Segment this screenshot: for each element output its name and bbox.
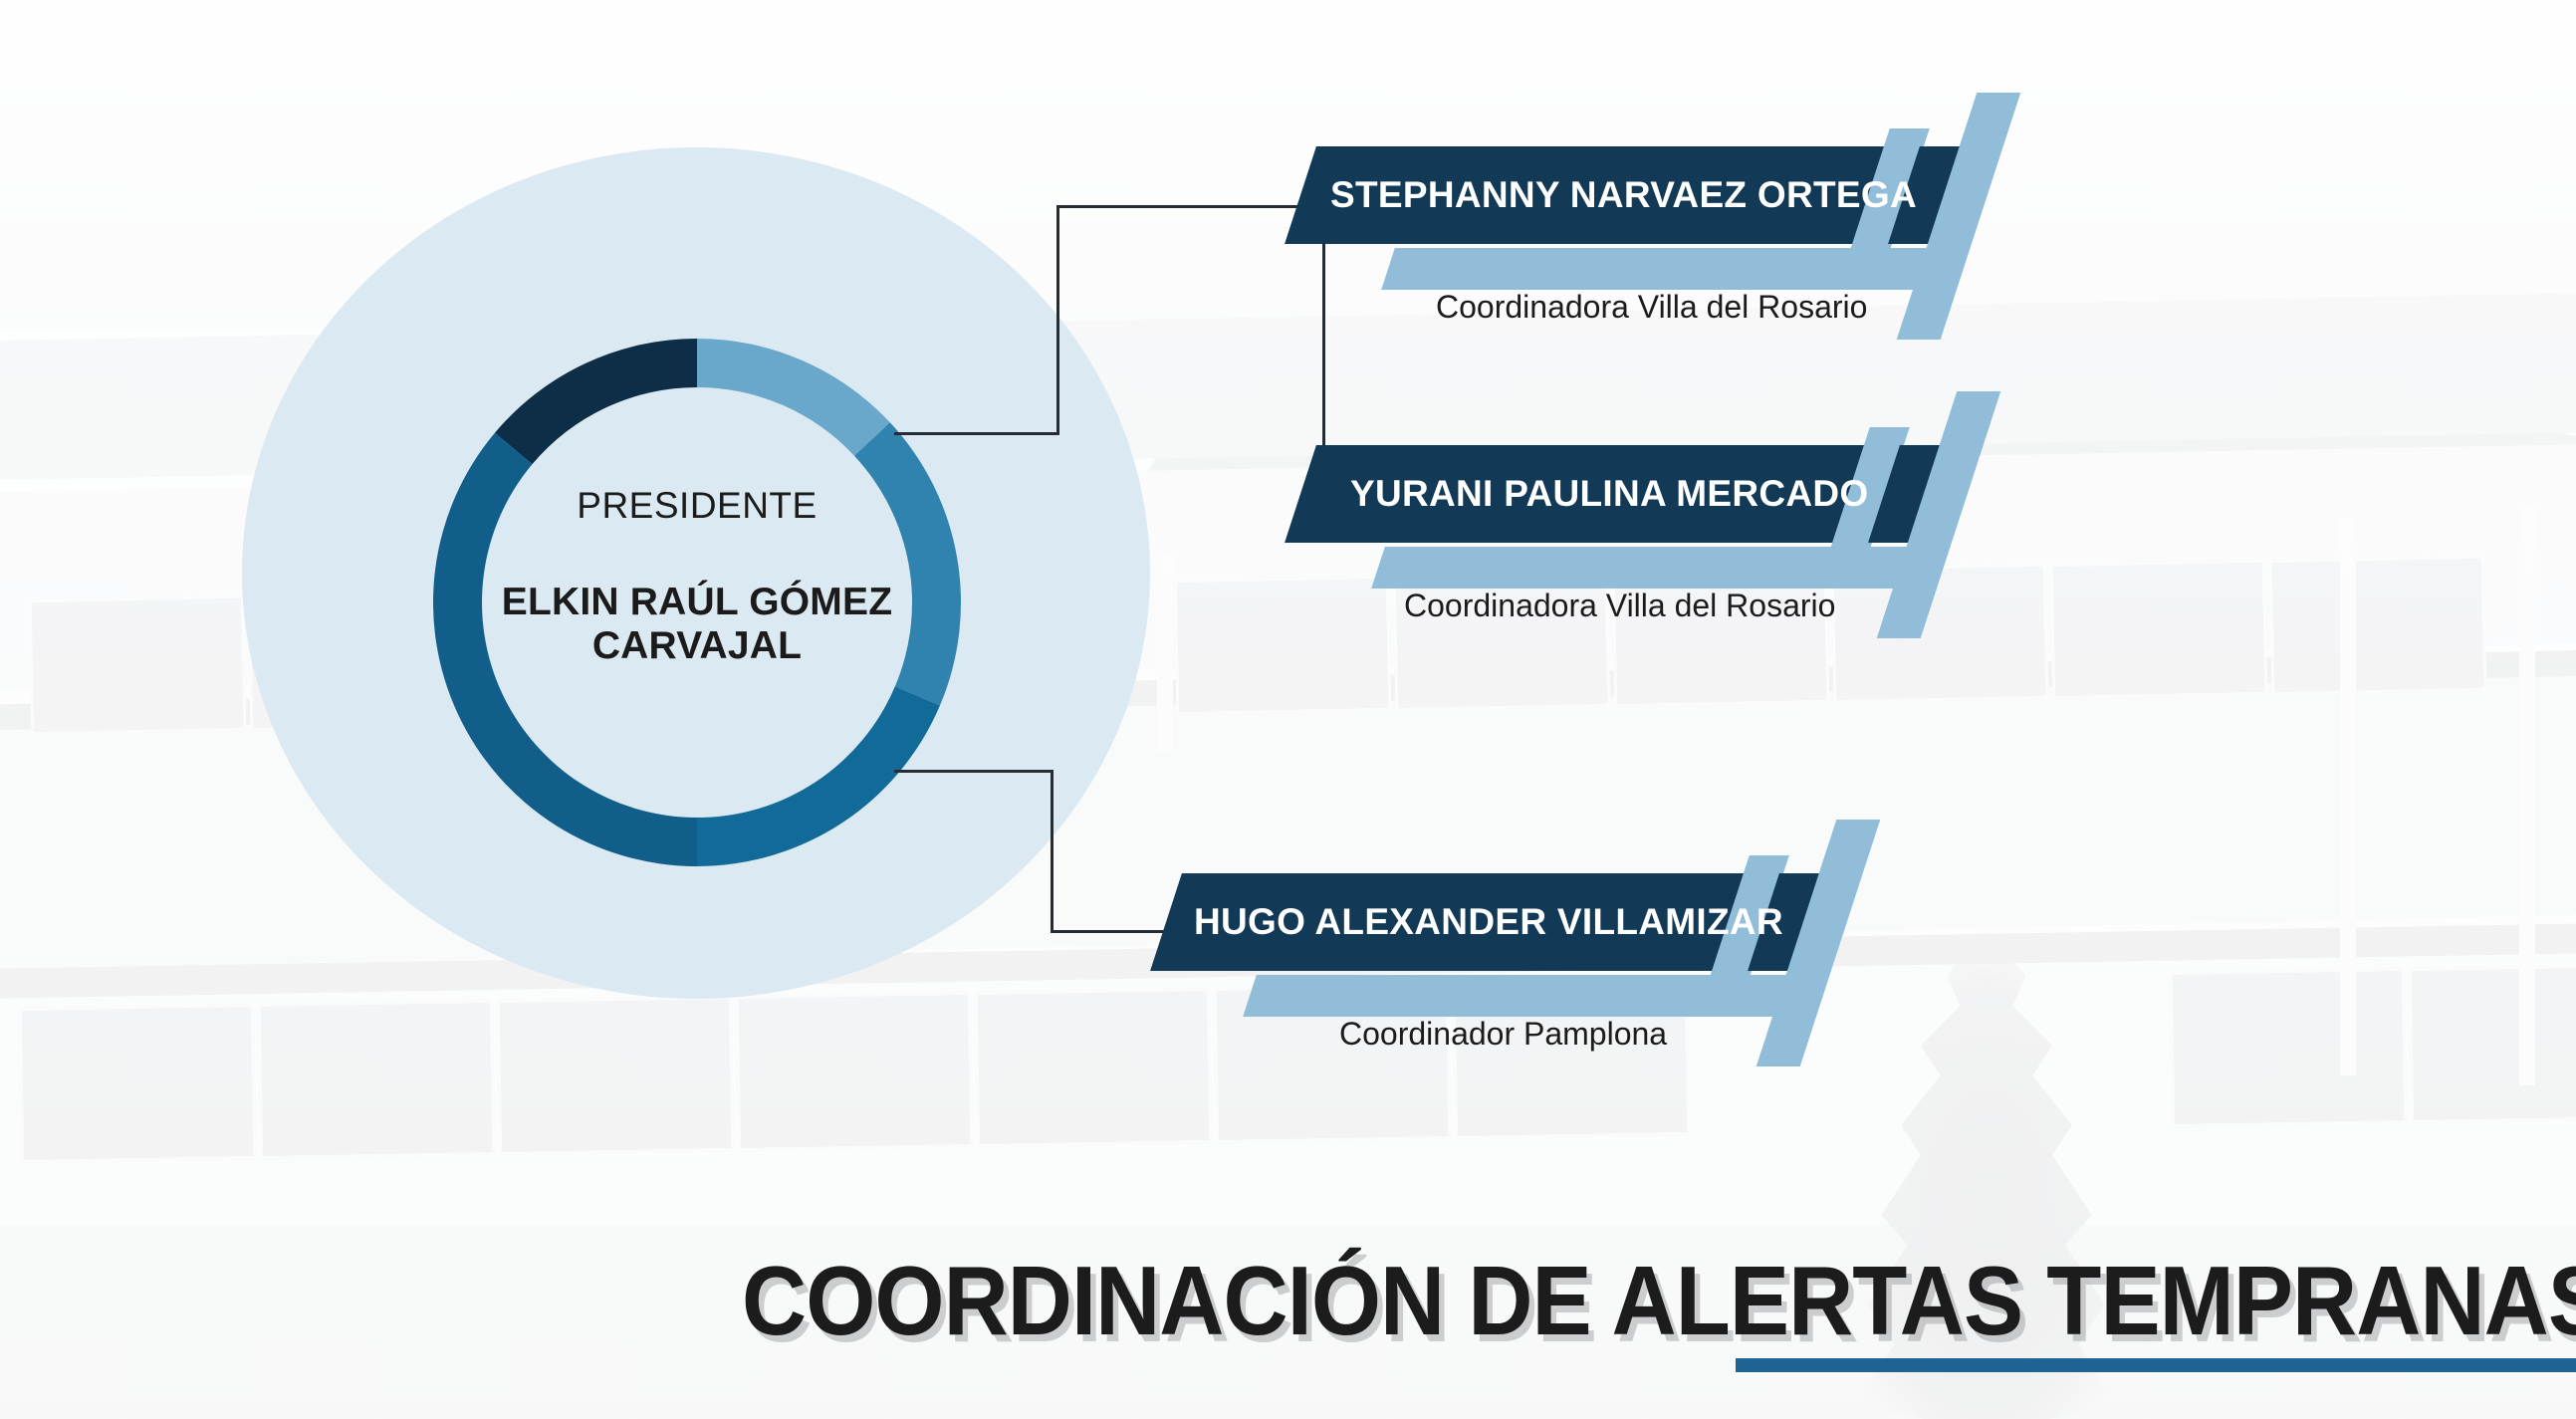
node-name-3: HUGO ALEXANDER VILLAMIZAR bbox=[1194, 873, 1783, 971]
node-role-1: Coordinadora Villa del Rosario bbox=[1436, 289, 1867, 326]
segment-navy bbox=[495, 339, 697, 464]
page-title: COORDINACIÓN DE ALERTAS TEMPRANAS bbox=[742, 1245, 2576, 1357]
connector-branch-3-drop bbox=[1051, 770, 1054, 933]
connector-root-riser bbox=[1056, 205, 1059, 435]
root-role-label: PRESIDENTE bbox=[448, 485, 946, 527]
root-name-line-2: CARVAJAL bbox=[418, 624, 976, 668]
segment-light-blue bbox=[697, 339, 890, 456]
root-name-label: ELKIN RAÚL GÓMEZ CARVAJAL bbox=[418, 581, 976, 669]
node-banner-3[interactable]: HUGO ALEXANDER VILLAMIZAR bbox=[1150, 873, 1867, 971]
node-name-1: STEPHANNY NARVAEZ ORTEGA bbox=[1330, 146, 1917, 244]
banner-underbar bbox=[1371, 547, 1929, 589]
title-underline-rule bbox=[1736, 1358, 2576, 1372]
node-banner-2[interactable]: YURANI PAULINA MERCADO bbox=[1285, 445, 2001, 543]
node-role-3: Coordinador Pamplona bbox=[1339, 1016, 1667, 1053]
segment-steel-blue bbox=[697, 686, 940, 866]
banner-underbar bbox=[1243, 975, 1806, 1017]
node-name-2: YURANI PAULINA MERCADO bbox=[1350, 445, 1868, 543]
connector-root-horizontal-lower bbox=[894, 770, 1054, 773]
node-role-2: Coordinadora Villa del Rosario bbox=[1404, 588, 1835, 624]
connector-root-horizontal bbox=[894, 432, 1059, 435]
org-chart-slide: PRESIDENTE ELKIN RAÚL GÓMEZ CARVAJAL STE… bbox=[0, 0, 2576, 1419]
node-banner-1[interactable]: STEPHANNY NARVAEZ ORTEGA bbox=[1285, 146, 2001, 244]
banner-underbar bbox=[1381, 248, 1949, 290]
root-name-line-1: ELKIN RAÚL GÓMEZ bbox=[418, 581, 976, 624]
